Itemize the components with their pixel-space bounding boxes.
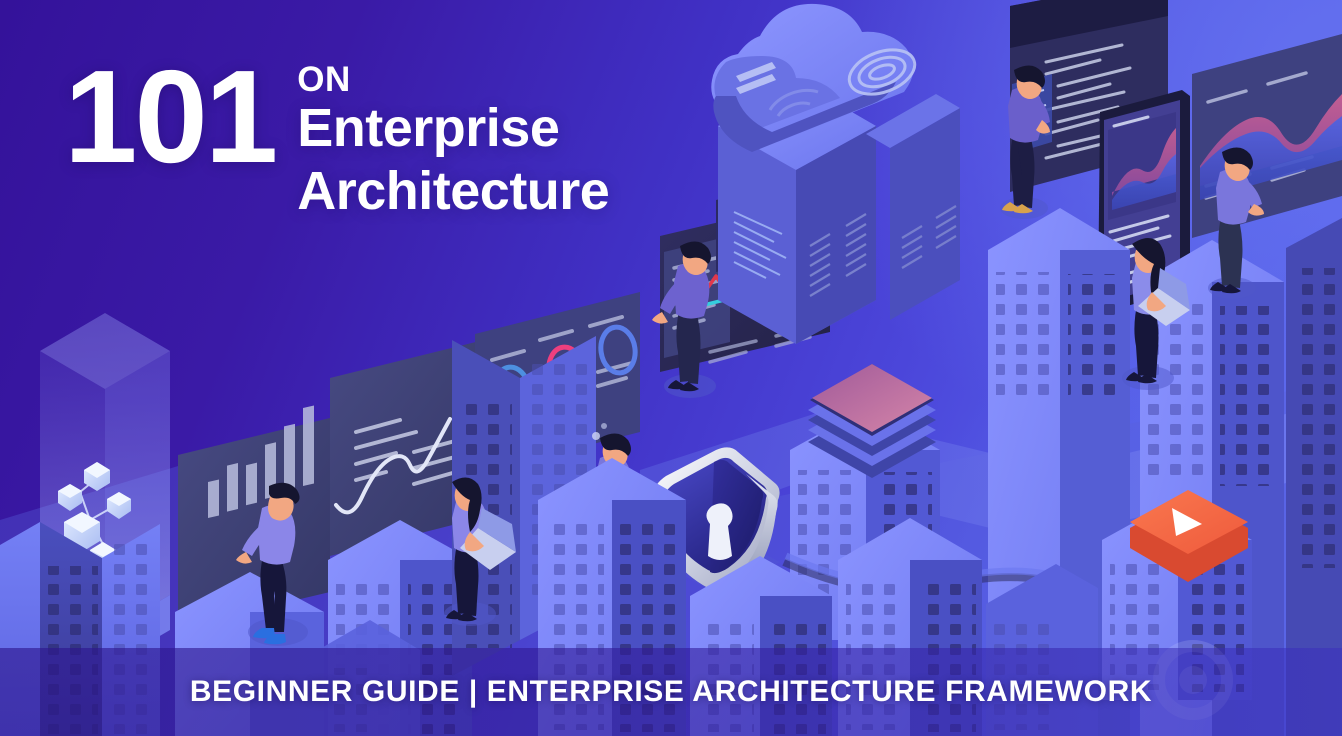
title-line-1: Enterprise xyxy=(297,97,609,160)
title-line-2: Architecture xyxy=(297,160,609,223)
area-chart-screen xyxy=(1192,34,1342,238)
banner-subtitle: BEGINNER GUIDE | ENTERPRISE ARCHITECTURE… xyxy=(190,675,1152,709)
bottom-banner: BEGINNER GUIDE | ENTERPRISE ARCHITECTURE… xyxy=(0,648,1342,736)
title-block: 101 ON Enterprise Architecture xyxy=(64,48,744,268)
title-kicker: ON xyxy=(297,62,609,97)
title-text-group: ON Enterprise Architecture xyxy=(297,48,609,222)
promo-banner: 101 ON Enterprise Architecture BEGINNER … xyxy=(0,0,1342,736)
page-title-number: 101 xyxy=(64,52,275,181)
